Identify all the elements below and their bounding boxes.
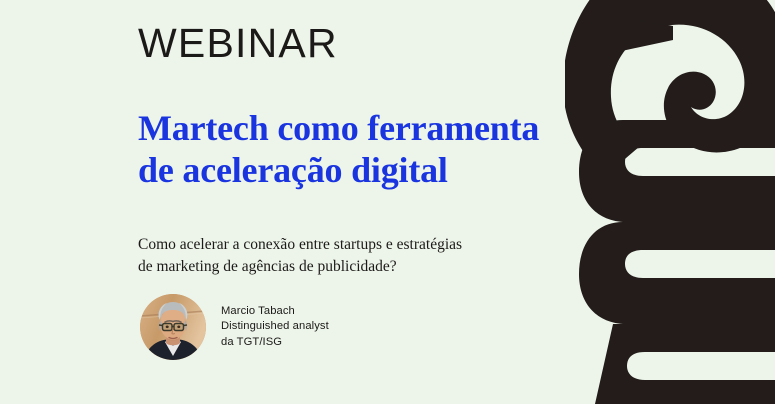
decorative-lettermark-panel [565, 0, 775, 404]
avatar [140, 294, 206, 360]
subtitle-line-2: de marketing de agências de publicidade? [138, 256, 558, 278]
subtitle-line-1: Como acelerar a conexão entre startups e… [138, 234, 558, 256]
headline-line-2: de aceleração digital [138, 149, 568, 191]
speaker-name: Marcio Tabach [221, 304, 329, 319]
speaker-role: Distinguished analyst [221, 319, 329, 334]
speaker-affiliation: da TGT/ISG [221, 335, 329, 350]
speaker-details: Marcio Tabach Distinguished analyst da T… [221, 304, 329, 350]
eyebrow-label: WEBINAR [138, 21, 338, 66]
page-title: Martech como ferramenta de aceleração di… [138, 107, 568, 191]
webinar-banner: WEBINAR Martech como ferramenta de acele… [0, 0, 775, 404]
rotated-3m-glyph-icon [565, 0, 775, 404]
speaker-portrait-image [140, 294, 206, 360]
headline-line-1: Martech como ferramenta [138, 107, 568, 149]
speaker-block: Marcio Tabach Distinguished analyst da T… [140, 294, 329, 360]
subtitle: Como acelerar a conexão entre startups e… [138, 234, 558, 278]
banner-content: WEBINAR Martech como ferramenta de acele… [138, 0, 568, 404]
